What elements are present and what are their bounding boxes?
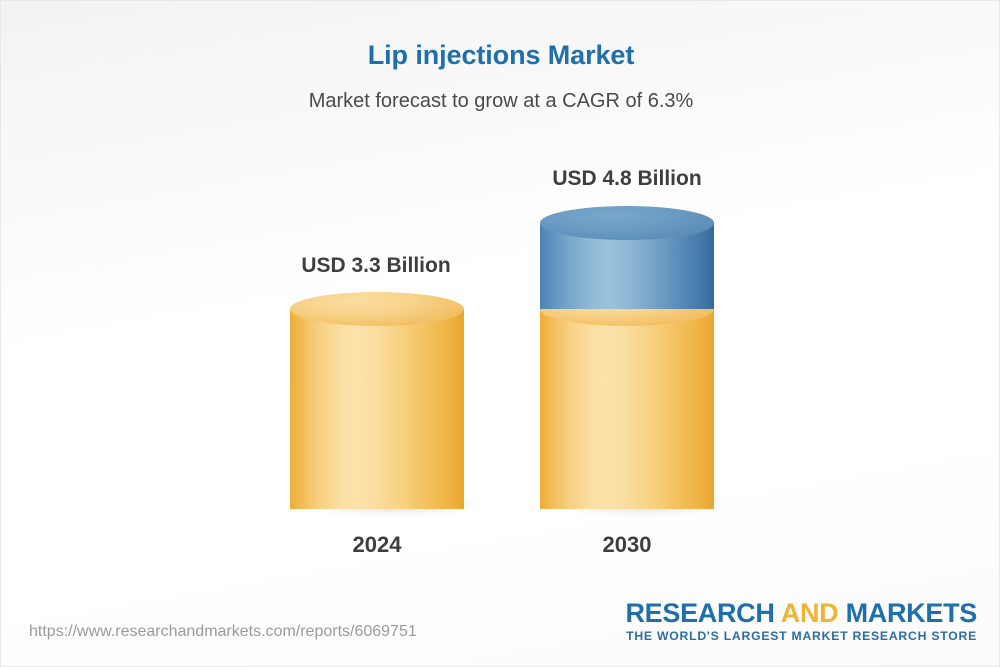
source-url[interactable]: https://www.researchandmarkets.com/repor… <box>29 623 417 641</box>
category-label-2030: 2030 <box>540 532 714 558</box>
value-label-2030: USD 4.8 Billion <box>477 167 777 191</box>
logo-text-research: RESEARCH <box>625 598 780 628</box>
bar-body-yellow-2030 <box>540 309 714 509</box>
research-and-markets-logo[interactable]: RESEARCH AND MARKETS THE WORLD'S LARGEST… <box>625 599 977 643</box>
bar-cylinder-2024 <box>290 292 464 509</box>
logo-text-markets: MARKETS <box>838 598 977 628</box>
logo-text-and: AND <box>781 598 839 628</box>
infographic-canvas: Lip injections Market Market forecast to… <box>0 0 1000 667</box>
page-title: Lip injections Market <box>1 40 1000 71</box>
logo-wordmark: RESEARCH AND MARKETS <box>625 599 977 627</box>
category-label-2024: 2024 <box>290 532 464 558</box>
bar-cap-yellow-2024 <box>290 292 464 326</box>
bar-cylinder-2030 <box>540 206 714 509</box>
bar-body-yellow-2024 <box>290 309 464 509</box>
chart-subtitle: Market forecast to grow at a CAGR of 6.3… <box>1 90 1000 113</box>
logo-tagline: THE WORLD'S LARGEST MARKET RESEARCH STOR… <box>625 629 977 643</box>
bar-cap-blue-2030 <box>540 206 714 240</box>
value-label-2024: USD 3.3 Billion <box>226 254 526 278</box>
